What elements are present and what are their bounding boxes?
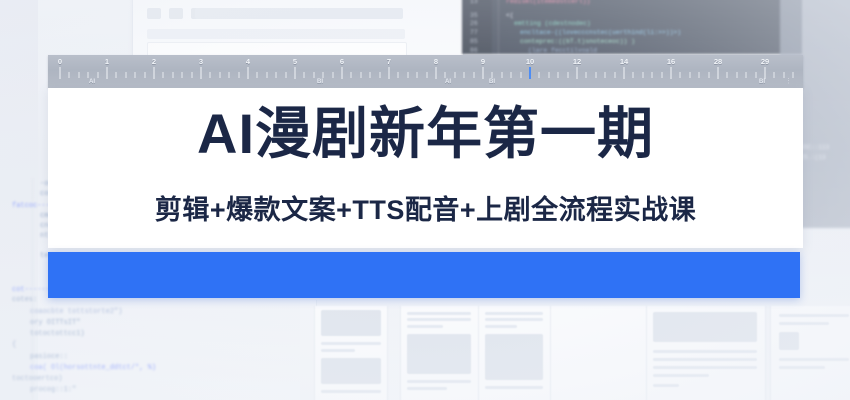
ruler-number: 10 — [526, 57, 534, 66]
ruler-major-tick — [718, 67, 719, 79]
code-line-text: emtting (cdestnodec) — [514, 20, 591, 27]
ruler-minor-tick — [219, 72, 220, 78]
window-control-dot — [169, 8, 183, 19]
ruler-minor-tick — [304, 72, 305, 78]
ruler-minor-tick — [172, 72, 173, 78]
code-line-text: coa( Ol(horsottnte_ddtct/*, %) — [30, 364, 156, 372]
ruler-minor-tick — [360, 72, 361, 78]
code-line-text: totoctottcc1) — [30, 330, 85, 338]
ruler-minor-tick — [69, 72, 70, 78]
ruler-minor-tick — [313, 72, 314, 78]
address-bar-placeholder — [195, 8, 403, 19]
ruler-minor-tick — [379, 72, 380, 78]
card-column — [478, 306, 552, 400]
ruler-minor-tick — [351, 72, 352, 78]
code-line-text: encltace-((lovecccnstec(uerthind(li:>>))… — [520, 29, 681, 36]
ruler-minor-tick — [116, 72, 117, 78]
ruler-number: 2 — [152, 57, 156, 66]
ruler-minor-tick — [520, 72, 521, 78]
ruler-sub-label: AI — [445, 79, 451, 85]
ruler-minor-tick — [774, 72, 775, 78]
ruler-minor-tick — [125, 72, 126, 78]
ruler-overflow-icon[interactable]: ⋮ — [785, 77, 793, 85]
ruler-major-tick — [436, 67, 437, 79]
ruler-number: 14 — [620, 57, 628, 66]
ruler-minor-tick — [708, 72, 709, 78]
ruler-minor-tick — [445, 72, 446, 78]
ruler-major-tick — [107, 67, 108, 79]
ruler-minor-tick — [135, 72, 136, 78]
ruler-major-tick — [295, 67, 296, 79]
card-column — [770, 306, 850, 400]
ruler-minor-tick — [755, 72, 756, 78]
ruler-minor-tick — [144, 72, 145, 78]
ruler-minor-tick — [699, 72, 700, 78]
ruler-major-tick — [671, 67, 672, 79]
window-control-dot — [147, 8, 161, 19]
code-line-text: ory OITTsIT" — [30, 319, 80, 327]
ruler-sub-label: BI — [317, 79, 323, 85]
code-line-number: 86 — [470, 47, 478, 54]
ruler-minor-tick — [285, 72, 286, 78]
ruler-minor-tick — [257, 72, 258, 78]
ruler-bar[interactable]: 0123456789101214162829AIBIAIBIBI⋮ — [48, 55, 803, 88]
ruler-number: 5 — [293, 57, 297, 66]
ruler-cursor-tick — [529, 67, 531, 79]
ruler-minor-tick — [88, 72, 89, 78]
ruler-sub-label: BI — [489, 79, 495, 85]
ruler-minor-tick — [464, 72, 465, 78]
code-line-text: { — [12, 341, 16, 349]
ruler-sub-label: BI — [759, 79, 765, 85]
editor-guide-line — [498, 0, 499, 54]
ruler-minor-tick — [332, 72, 333, 78]
ruler-major-tick — [201, 67, 202, 79]
ruler-number: 0 — [58, 57, 62, 66]
ruler-number: 12 — [573, 57, 581, 66]
ruler-minor-tick — [276, 72, 277, 78]
code-line-number: 35 — [470, 12, 478, 19]
ruler-minor-tick — [163, 72, 164, 78]
ruler-minor-tick — [642, 72, 643, 78]
ruler-minor-tick — [558, 72, 559, 78]
code-line-text: <( — [506, 12, 514, 19]
ruler-minor-tick — [605, 72, 606, 78]
ruler-minor-tick — [633, 72, 634, 78]
ruler-major-tick — [389, 67, 390, 79]
ruler-minor-tick — [586, 72, 587, 78]
ruler-minor-tick — [595, 72, 596, 78]
code-line-text: (lare fecctilvoald — [528, 47, 597, 54]
browser-window-mockup — [132, 0, 464, 58]
toolbar-placeholder — [147, 29, 405, 39]
ruler-minor-tick — [210, 72, 211, 78]
ruler-major-tick — [483, 67, 484, 79]
ruler-minor-tick — [511, 72, 512, 78]
ruler-minor-tick — [548, 72, 549, 78]
ruler-minor-tick — [727, 72, 728, 78]
ruler-number: 28 — [714, 57, 722, 66]
code-line-number: 26 — [470, 20, 478, 27]
ruler-minor-tick — [182, 72, 183, 78]
code-line-text: pasioce:: — [30, 353, 68, 361]
poster-card: AI漫剧新年第一期 剪辑+爆款文案+TTS配音+上剧全流程实战课 — [48, 88, 803, 248]
ruler-minor-tick — [454, 72, 455, 78]
code-line-text: redisml(itemedstcerl)) — [506, 0, 590, 5]
ruler-minor-tick — [229, 72, 230, 78]
ruler-minor-tick — [97, 72, 98, 78]
ruler-minor-tick — [736, 72, 737, 78]
ruler-minor-tick — [323, 72, 324, 78]
ruler-number: 9 — [481, 57, 485, 66]
code-line-number: 85 — [470, 38, 478, 45]
accent-banner — [48, 252, 800, 298]
card-column — [550, 306, 648, 400]
code-line-text: procog::1:" — [30, 386, 76, 394]
ruler-minor-tick — [407, 72, 408, 78]
code-line-text: cotes: — [12, 296, 37, 304]
ruler-number: 7 — [387, 57, 391, 66]
ruler-minor-tick — [191, 72, 192, 78]
ruler-number: 16 — [667, 57, 675, 66]
ruler-number: 6 — [340, 57, 344, 66]
dark-code-editor-mockup: 13 redisml(itemedstcerl)) 35 <( 26 emtti… — [462, 0, 802, 54]
ruler-minor-tick — [398, 72, 399, 78]
ruler-minor-tick — [539, 72, 540, 78]
page-title: AI漫剧新年第一期 — [48, 106, 803, 162]
code-line-number: 77 — [470, 29, 478, 36]
ruler-major-tick — [624, 67, 625, 79]
ruler-minor-tick — [266, 72, 267, 78]
poster-image: 13 redisml(itemedstcerl)) 35 <( 26 emtti… — [0, 0, 850, 400]
ruler-minor-tick — [661, 72, 662, 78]
card-column — [314, 306, 388, 400]
ruler-minor-tick — [473, 72, 474, 78]
ruler-minor-tick — [78, 72, 79, 78]
ruler-minor-tick — [501, 72, 502, 78]
ruler-major-tick — [248, 67, 249, 79]
ruler-minor-tick — [614, 72, 615, 78]
ruler-minor-tick — [746, 72, 747, 78]
ruler-minor-tick — [426, 72, 427, 78]
ruler-minor-tick — [238, 72, 239, 78]
ruler-major-tick — [342, 67, 343, 79]
ruler-minor-tick — [370, 72, 371, 78]
editor-gutter — [462, 0, 492, 54]
ruler-sub-label: AI — [89, 79, 95, 85]
code-line-number: 13 — [470, 0, 478, 5]
ruler-number: 8 — [434, 57, 438, 66]
ruler-major-tick — [60, 67, 61, 79]
ruler-number: 1 — [105, 57, 109, 66]
ruler-number: 29 — [761, 57, 769, 66]
ruler-minor-tick — [652, 72, 653, 78]
card-column — [646, 306, 766, 400]
bottom-card-columns — [300, 306, 850, 400]
card-column — [400, 306, 480, 400]
ruler-major-tick — [577, 67, 578, 79]
ruler-minor-tick — [492, 72, 493, 78]
code-line-text: conteprec:((bT.t)snoteceoc)) ) — [520, 38, 635, 45]
code-line-text: coaocbte tottstorte2") — [30, 308, 122, 316]
ruler-minor-tick — [417, 72, 418, 78]
ruler-major-tick — [765, 67, 766, 79]
ruler-minor-tick — [680, 72, 681, 78]
ruler-number: 4 — [246, 57, 250, 66]
ruler-minor-tick — [567, 72, 568, 78]
page-subtitle: 剪辑+爆款文案+TTS配音+上剧全流程实战课 — [48, 188, 803, 227]
ruler-major-tick — [154, 67, 155, 79]
ruler-minor-tick — [689, 72, 690, 78]
ruler-number: 3 — [199, 57, 203, 66]
code-line-text: toctooertco) — [12, 375, 62, 383]
